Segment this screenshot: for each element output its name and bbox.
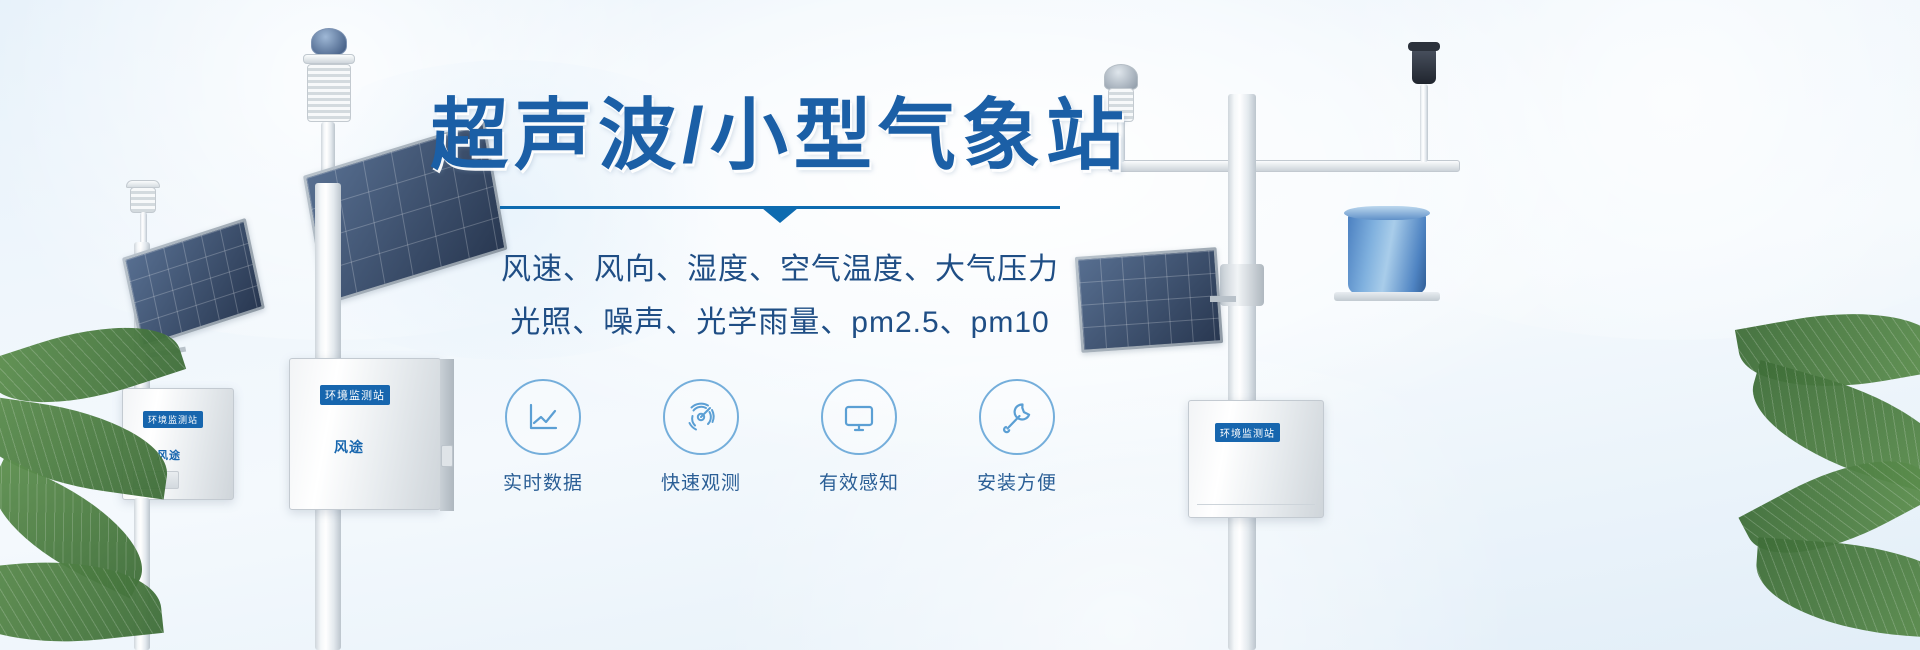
feature-item-fast-observation[interactable]: 快速观测 <box>646 379 756 495</box>
feature-label: 快速观测 <box>646 468 756 495</box>
feature-item-effective-sensing[interactable]: 有效感知 <box>804 379 914 495</box>
feature-icon-circle <box>505 379 581 455</box>
rain-gauge-base <box>1334 292 1440 301</box>
feature-icon-circle <box>821 379 897 455</box>
title-divider <box>500 202 1060 218</box>
sensor-mast <box>140 212 147 246</box>
feature-label: 有效感知 <box>804 468 914 495</box>
wrench-icon <box>997 397 1037 437</box>
banner-content: 超声波/小型气象站 风速、风向、湿度、空气温度、大气压力 光照、噪声、光学雨量、… <box>430 96 1130 495</box>
instrument-cabinet: 环境监测站 <box>1188 400 1324 518</box>
solar-panel-arm <box>1210 296 1236 302</box>
cabinet-door-line <box>1197 504 1315 505</box>
radar-observation-icon <box>681 397 721 437</box>
rain-gauge <box>1348 212 1426 294</box>
ultrasonic-sensor-dome <box>311 28 347 56</box>
rain-sensor-stem <box>1420 84 1428 162</box>
rain-sensor-cap <box>1408 42 1440 51</box>
main-pole <box>1228 94 1256 650</box>
cabinet-label: 环境监测站 <box>143 411 203 428</box>
radiation-shield-plates <box>307 64 351 122</box>
rain-gauge-rim <box>1344 206 1430 220</box>
cabinet-label: 环境监测站 <box>1215 423 1280 442</box>
cross-arm <box>1108 160 1460 172</box>
subtitle-block: 风速、风向、湿度、空气温度、大气压力 光照、噪声、光学雨量、pm2.5、pm10 <box>430 244 1130 349</box>
line-chart-icon <box>523 397 563 437</box>
feature-item-easy-install[interactable]: 安装方便 <box>962 379 1072 495</box>
feature-label: 实时数据 <box>488 468 598 495</box>
cabinet-label: 环境监测站 <box>320 385 390 405</box>
feature-icon-circle <box>979 379 1055 455</box>
subtitle-line-1: 风速、风向、湿度、空气温度、大气压力 <box>430 244 1130 297</box>
monitor-screen-icon <box>839 397 879 437</box>
sensor-shield-plates <box>130 187 156 213</box>
instrument-cabinet: 环境监测站 风途 <box>289 358 441 510</box>
feature-label: 安装方便 <box>962 468 1072 495</box>
cabinet-brand: 风途 <box>334 437 364 457</box>
page-title: 超声波/小型气象站 <box>430 96 1130 174</box>
ultrasonic-anemometer <box>1104 64 1138 90</box>
feature-list: 实时数据 <box>430 379 1130 495</box>
subtitle-line-2: 光照、噪声、光学雨量、pm2.5、pm10 <box>430 297 1130 350</box>
chevron-down-icon <box>762 208 798 223</box>
feature-icon-circle <box>663 379 739 455</box>
optical-rain-sensor <box>1412 48 1436 84</box>
sensor-cap <box>303 54 355 64</box>
product-banner: 环境监测站 风途 环境监测站 风途 <box>0 0 1920 650</box>
leaf-right-4 <box>1752 537 1920 640</box>
feature-item-realtime-data[interactable]: 实时数据 <box>488 379 598 495</box>
